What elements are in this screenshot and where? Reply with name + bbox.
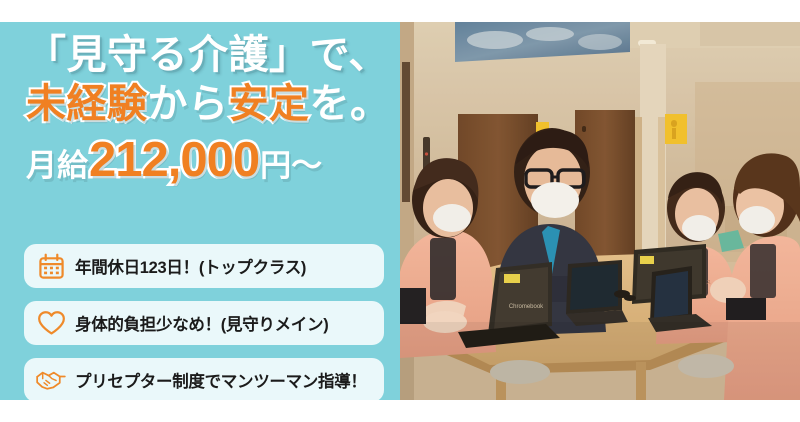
feature-label-holidays: 年間休日123日！(トップクラス) — [75, 254, 306, 278]
feature-label-preceptor: プリセプター制度でマンツーマン指導！ — [75, 368, 367, 392]
calendar-icon — [34, 251, 68, 281]
headline-plain-suffix: を。 — [310, 82, 391, 126]
headline-plain-from: から — [148, 82, 229, 126]
headline-salary-line: 月給212,000円〜 — [26, 132, 386, 190]
recruitment-banner: 「見守る介護」で、 未経験から安定を。 月給212,000円〜 — [0, 0, 800, 422]
headline-line-2: 未経験から安定を。 — [26, 81, 386, 128]
headline-accent-stability: 安定 — [229, 82, 310, 126]
feature-chip-list: 年間休日123日！(トップクラス) 身体的負担少なめ！(見守りメイン) — [24, 244, 384, 400]
feature-chip-preceptor: プリセプター制度でマンツーマン指導！ — [24, 358, 384, 400]
heart-icon — [34, 308, 68, 338]
feature-label-workload: 身体的負担少なめ！(見守りメイン) — [75, 311, 328, 335]
salary-label: 月給 — [26, 148, 88, 185]
headline-block: 「見守る介護」で、 未経験から安定を。 月給212,000円〜 — [26, 32, 386, 190]
feature-chip-holidays: 年間休日123日！(トップクラス) — [24, 244, 384, 288]
headline-line-1: 「見守る介護」で、 — [26, 32, 386, 79]
salary-unit: 円〜 — [260, 148, 322, 185]
handshake-icon — [34, 365, 68, 395]
salary-amount: 212,000 — [89, 132, 259, 190]
team-meeting-photo: ケアサービス Chromebook — [400, 22, 800, 400]
banner-content-band: 「見守る介護」で、 未経験から安定を。 月給212,000円〜 — [0, 22, 800, 400]
left-text-panel: 「見守る介護」で、 未経験から安定を。 月給212,000円〜 — [0, 22, 400, 400]
headline-accent-inexperienced: 未経験 — [26, 82, 148, 126]
feature-chip-workload: 身体的負担少なめ！(見守りメイン) — [24, 301, 384, 345]
